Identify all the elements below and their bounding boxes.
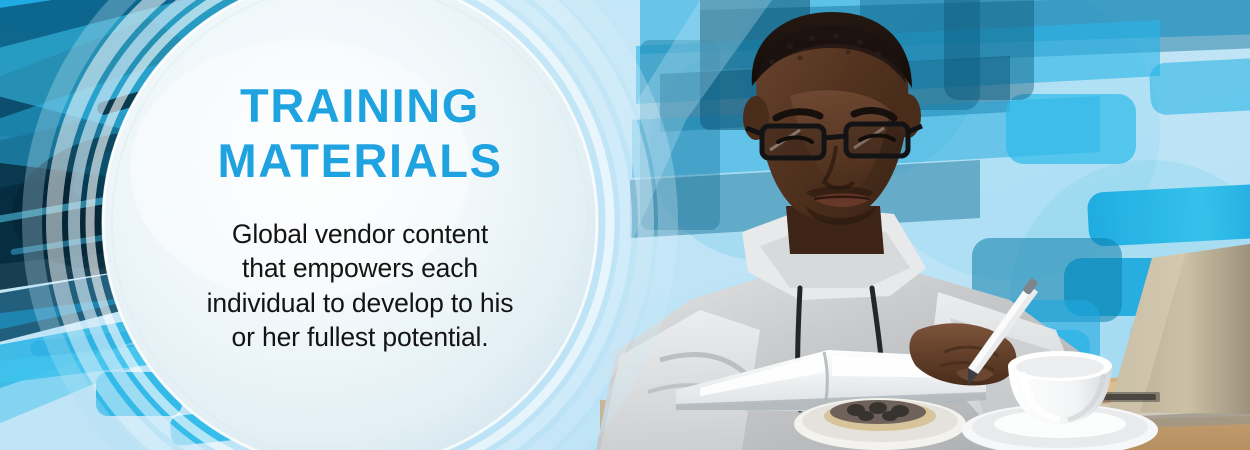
headline-line-1: TRAINING	[150, 78, 570, 133]
banner-text-block: TRAINING MATERIALS Global vendor content…	[150, 78, 570, 355]
subtext-line-1: Global vendor content	[150, 217, 570, 251]
headline-line-2: MATERIALS	[150, 133, 570, 188]
subtext-line-2: that empowers each	[150, 251, 570, 285]
training-materials-banner: TRAINING MATERIALS Global vendor content…	[0, 0, 1250, 450]
subtext-line-4: or her fullest potential.	[150, 320, 570, 354]
subtext-line-3: individual to develop to his	[150, 286, 570, 320]
banner-subtext: Global vendor content that empowers each…	[150, 217, 570, 355]
page-title: TRAINING MATERIALS	[150, 78, 570, 189]
